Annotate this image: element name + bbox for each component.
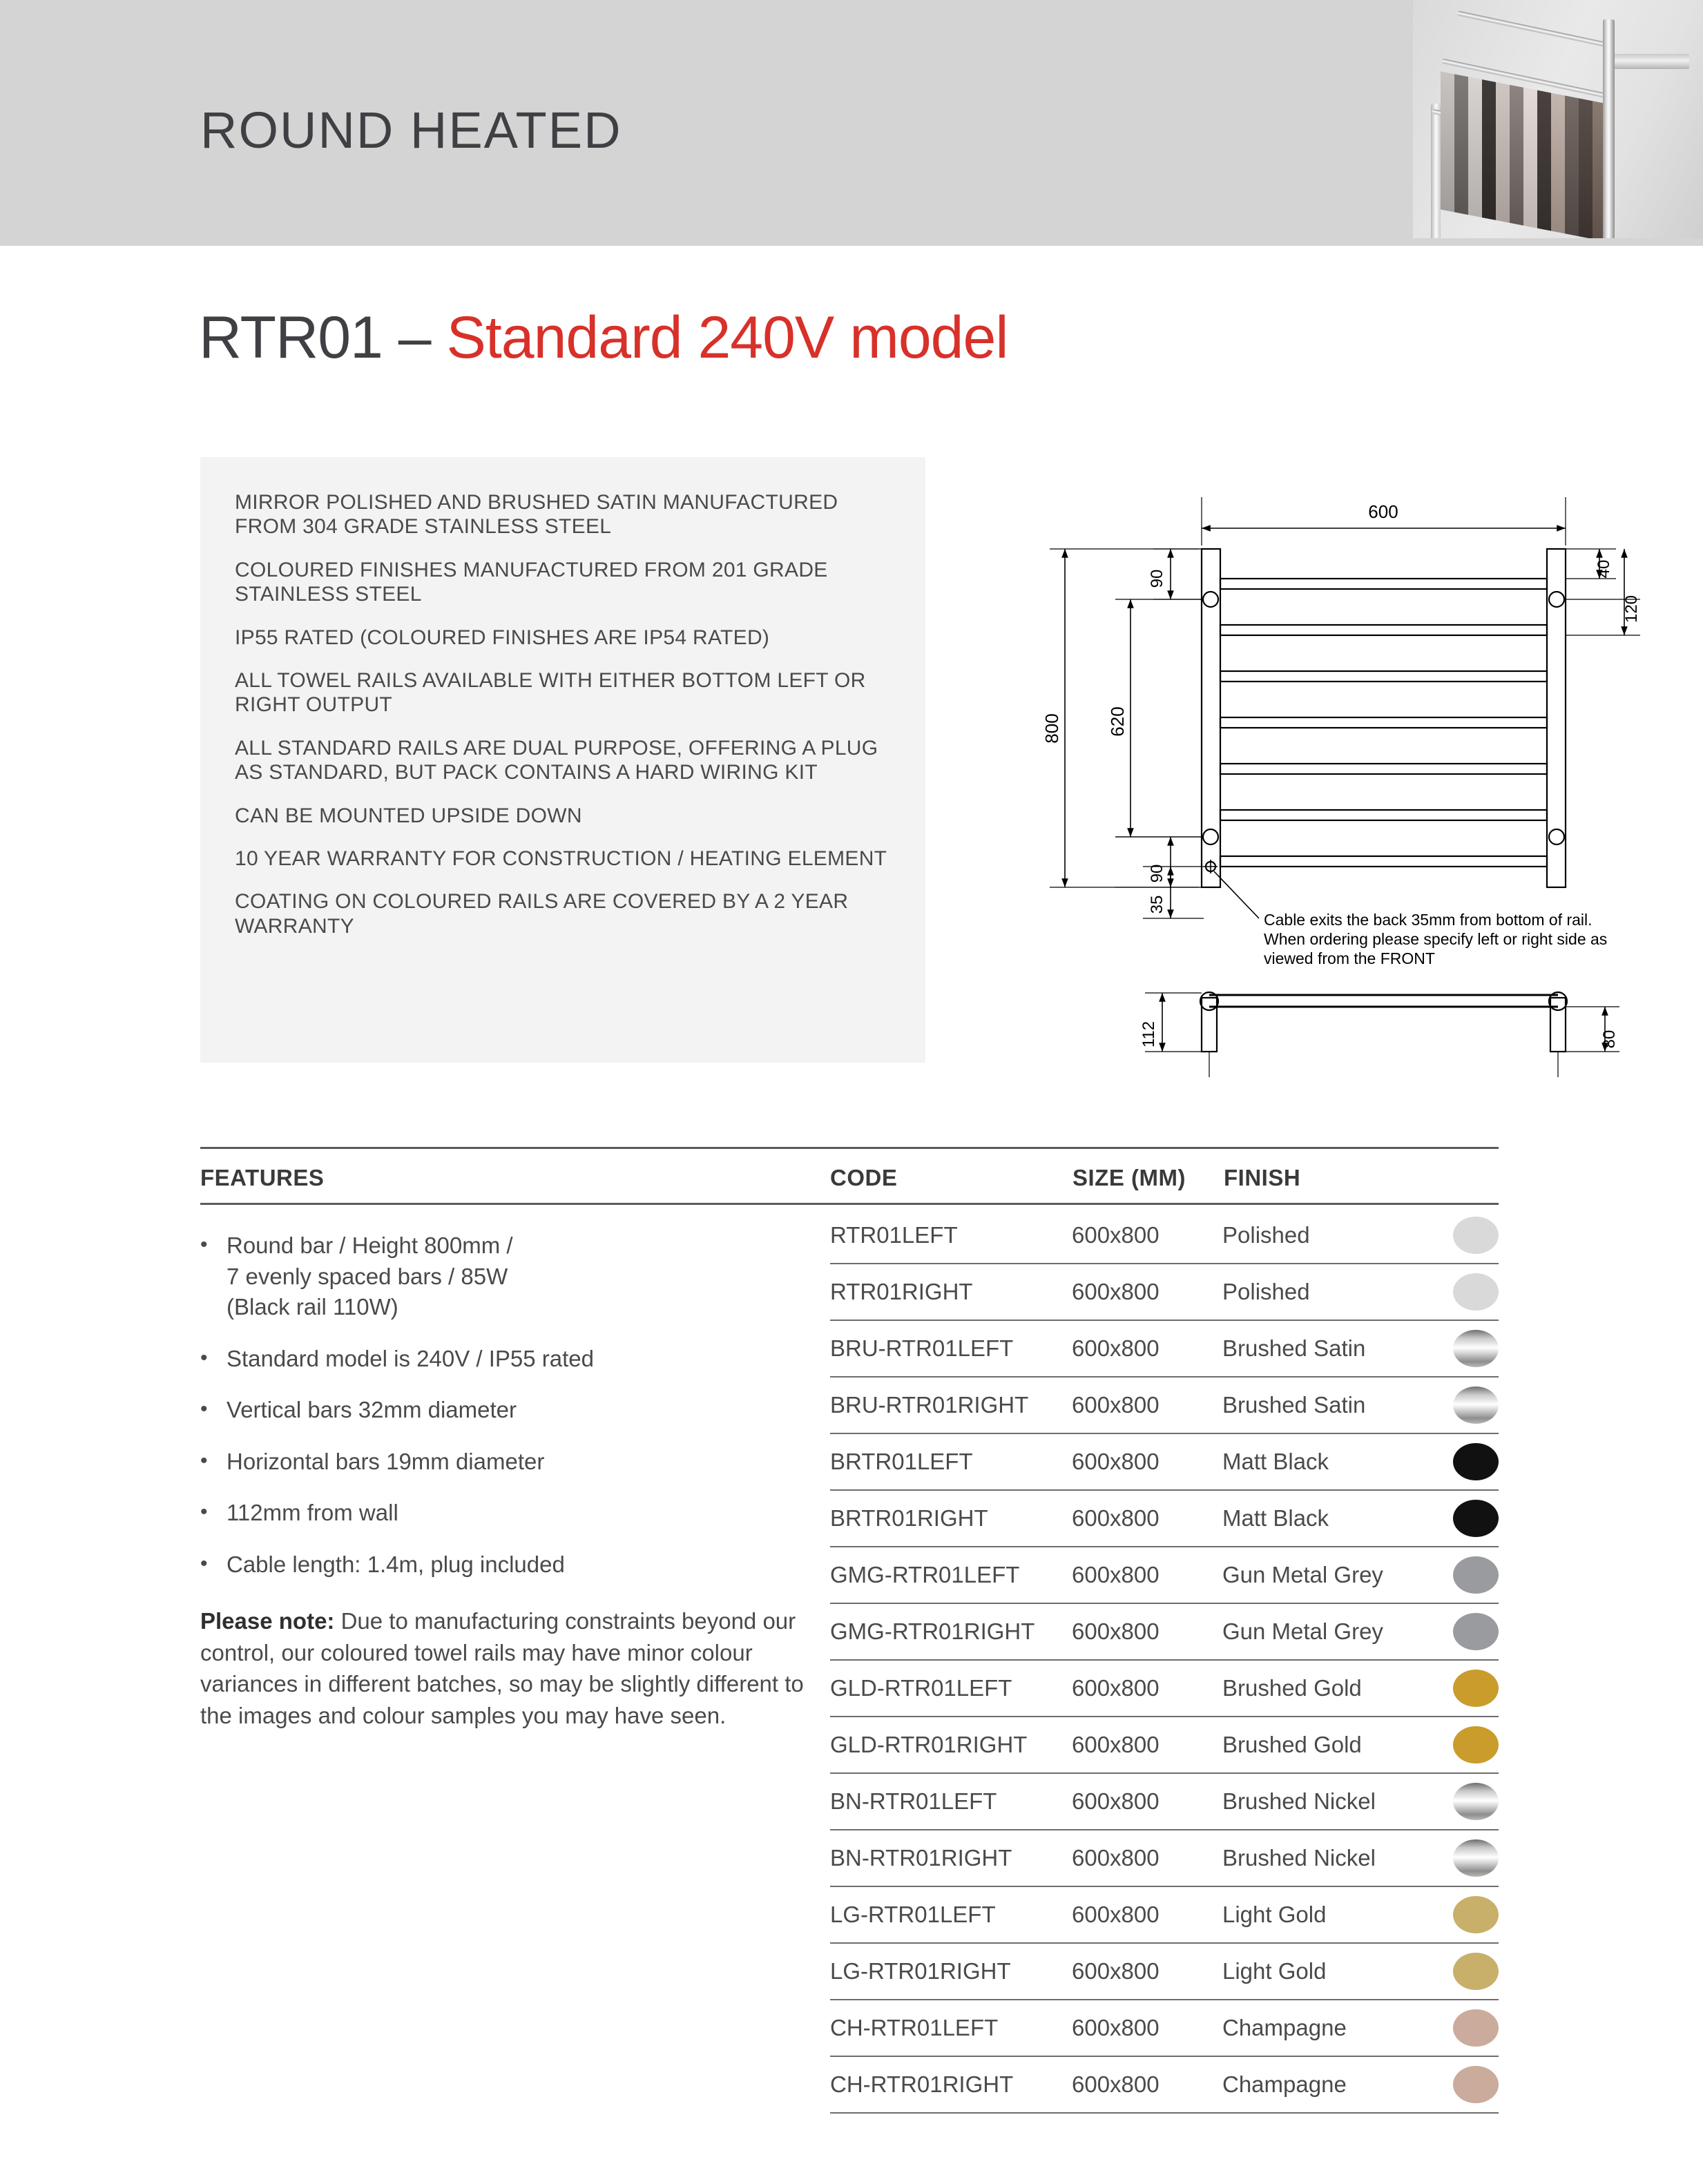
bullet-icon: • <box>200 1498 227 1529</box>
table-row: BRTR01RIGHT600x800Matt Black <box>830 1490 1499 1547</box>
please-note-label: Please note: <box>200 1608 334 1634</box>
cell-size: 600x800 <box>1072 1603 1222 1660</box>
finish-swatch-gun-metal-grey <box>1453 1556 1499 1594</box>
feature-text: Round bar / Height 800mm / 7 evenly spac… <box>227 1230 808 1323</box>
cell-size: 600x800 <box>1072 2000 1222 2056</box>
cell-swatch <box>1424 1830 1499 1886</box>
table-row: RTR01LEFT600x800Polished <box>830 1207 1499 1264</box>
cell-code: CH-RTR01RIGHT <box>830 2056 1072 2113</box>
cell-size: 600x800 <box>1072 1320 1222 1377</box>
cell-size: 600x800 <box>1072 2056 1222 2113</box>
cell-size: 600x800 <box>1072 1660 1222 1717</box>
spec-line: MIRROR POLISHED AND BRUSHED SATIN MANUFA… <box>235 490 894 539</box>
table-row: LG-RTR01RIGHT600x800Light Gold <box>830 1943 1499 2000</box>
dim-112: 112 <box>1139 1021 1158 1047</box>
dim-600: 600 <box>1368 501 1398 522</box>
finish-swatch-champagne <box>1453 2066 1499 2103</box>
cell-code: BN-RTR01LEFT <box>830 1773 1072 1830</box>
cell-finish: Light Gold <box>1222 1886 1424 1943</box>
table-row: BN-RTR01RIGHT600x800Brushed Nickel <box>830 1830 1499 1886</box>
dim-800: 800 <box>1041 713 1062 743</box>
table-row: GMG-RTR01RIGHT600x800Gun Metal Grey <box>830 1603 1499 1660</box>
cell-code: LG-RTR01LEFT <box>830 1886 1072 1943</box>
table-row: CH-RTR01RIGHT600x800Champagne <box>830 2056 1499 2113</box>
finish-swatch-matt-black <box>1453 1500 1499 1537</box>
cell-size: 600x800 <box>1072 1433 1222 1490</box>
finish-swatch-champagne <box>1453 2009 1499 2047</box>
drawing-svg: 600 800 620 90 90 35 40 <box>994 414 1685 1077</box>
cell-code: GLD-RTR01LEFT <box>830 1660 1072 1717</box>
feature-item: •Round bar / Height 800mm / 7 evenly spa… <box>200 1230 808 1323</box>
cell-finish: Brushed Gold <box>1222 1660 1424 1717</box>
feature-item: •112mm from wall <box>200 1498 808 1529</box>
feature-text: Cable length: 1.4m, plug included <box>227 1549 808 1581</box>
table-row: BN-RTR01LEFT600x800Brushed Nickel <box>830 1773 1499 1830</box>
cell-code: RTR01RIGHT <box>830 1264 1072 1320</box>
cell-swatch <box>1424 1886 1499 1943</box>
cell-code: BRTR01RIGHT <box>830 1490 1072 1547</box>
cell-finish: Matt Black <box>1222 1433 1424 1490</box>
technical-drawing: 600 800 620 90 90 35 40 <box>994 414 1685 1077</box>
bullet-icon: • <box>200 1344 227 1375</box>
cell-swatch <box>1424 1377 1499 1433</box>
dim-80: 80 <box>1600 1030 1619 1049</box>
product-variants-table: RTR01LEFT600x800PolishedRTR01RIGHT600x80… <box>830 1207 1499 2114</box>
bullet-icon: • <box>200 1447 227 1478</box>
table-row: BRU-RTR01RIGHT600x800Brushed Satin <box>830 1377 1499 1433</box>
feature-item: •Horizontal bars 19mm diameter <box>200 1447 808 1478</box>
cell-finish: Polished <box>1222 1264 1424 1320</box>
cell-size: 600x800 <box>1072 1943 1222 2000</box>
cell-swatch <box>1424 2000 1499 2056</box>
page-title: ROUND HEATED <box>200 105 622 156</box>
dim-620: 620 <box>1107 706 1128 736</box>
cell-finish: Brushed Nickel <box>1222 1830 1424 1886</box>
cell-finish: Brushed Gold <box>1222 1717 1424 1773</box>
column-header-code: CODE <box>830 1165 897 1191</box>
bullet-icon: • <box>200 1230 227 1323</box>
cell-code: LG-RTR01RIGHT <box>830 1943 1072 2000</box>
cable-note-line-1: Cable exits the back 35mm from bottom of… <box>1264 911 1593 929</box>
finish-swatch-light-gold <box>1453 1896 1499 1933</box>
cell-code: GMG-RTR01LEFT <box>830 1547 1072 1603</box>
table-row: GLD-RTR01LEFT600x800Brushed Gold <box>830 1660 1499 1717</box>
table-row: BRU-RTR01LEFT600x800Brushed Satin <box>830 1320 1499 1377</box>
cell-finish: Polished <box>1222 1207 1424 1264</box>
spec-line: 10 YEAR WARRANTY FOR CONSTRUCTION / HEAT… <box>235 847 894 871</box>
cell-finish: Gun Metal Grey <box>1222 1547 1424 1603</box>
column-header-size: SIZE (MM) <box>1072 1165 1186 1191</box>
cable-note-line-2: When ordering please specify left or rig… <box>1264 930 1607 948</box>
feature-text: 112mm from wall <box>227 1498 808 1529</box>
table-row: RTR01RIGHT600x800Polished <box>830 1264 1499 1320</box>
column-header-finish: FINISH <box>1224 1165 1300 1191</box>
feature-item: •Standard model is 240V / IP55 rated <box>200 1344 808 1375</box>
cell-swatch <box>1424 1660 1499 1717</box>
cell-code: GLD-RTR01RIGHT <box>830 1717 1072 1773</box>
dim-120: 120 <box>1622 595 1641 623</box>
table-row: GMG-RTR01LEFT600x800Gun Metal Grey <box>830 1547 1499 1603</box>
cell-swatch <box>1424 1320 1499 1377</box>
spec-line: IP55 RATED (COLOURED FINISHES ARE IP54 R… <box>235 626 894 650</box>
cell-finish: Light Gold <box>1222 1943 1424 2000</box>
wall-bracket-icon <box>1613 54 1689 69</box>
cell-size: 600x800 <box>1072 1547 1222 1603</box>
finish-swatch-polished <box>1453 1273 1499 1311</box>
cell-size: 600x800 <box>1072 1773 1222 1830</box>
table-row: BRTR01LEFT600x800Matt Black <box>830 1433 1499 1490</box>
finish-swatch-polished <box>1453 1217 1499 1254</box>
spec-line: COATING ON COLOURED RAILS ARE COVERED BY… <box>235 889 894 938</box>
header-band: ROUND HEATED <box>0 0 1703 246</box>
finish-swatch-brushed-satin <box>1453 1386 1499 1424</box>
spec-line: ALL TOWEL RAILS AVAILABLE WITH EITHER BO… <box>235 668 894 717</box>
cell-finish: Matt Black <box>1222 1490 1424 1547</box>
column-header-features: FEATURES <box>200 1165 324 1191</box>
product-code: RTR01 <box>199 305 383 371</box>
finish-swatch-light-gold <box>1453 1953 1499 1990</box>
rail-post-back-icon <box>1431 104 1441 238</box>
feature-text: Standard model is 240V / IP55 rated <box>227 1344 808 1375</box>
dim-35: 35 <box>1148 896 1166 914</box>
finish-swatch-brushed-gold <box>1453 1670 1499 1707</box>
specification-box: MIRROR POLISHED AND BRUSHED SATIN MANUFA… <box>200 457 925 1063</box>
feature-text: Vertical bars 32mm diameter <box>227 1395 808 1426</box>
cell-size: 600x800 <box>1072 1377 1222 1433</box>
cell-swatch <box>1424 1603 1499 1660</box>
finish-swatch-brushed-nickel <box>1453 1783 1499 1820</box>
cell-code: BRU-RTR01LEFT <box>830 1320 1072 1377</box>
feature-item: •Vertical bars 32mm diameter <box>200 1395 808 1426</box>
cell-swatch <box>1424 1943 1499 2000</box>
cell-swatch <box>1424 1717 1499 1773</box>
product-subtitle: Standard 240V model <box>447 305 1008 371</box>
cell-swatch <box>1424 1264 1499 1320</box>
cell-code: RTR01LEFT <box>830 1207 1072 1264</box>
table-row: GLD-RTR01RIGHT600x800Brushed Gold <box>830 1717 1499 1773</box>
dim-90-top: 90 <box>1148 570 1166 588</box>
cell-finish: Champagne <box>1222 2000 1424 2056</box>
cell-size: 600x800 <box>1072 1264 1222 1320</box>
cell-swatch <box>1424 1433 1499 1490</box>
cell-swatch <box>1424 1207 1499 1264</box>
spec-line: CAN BE MOUNTED UPSIDE DOWN <box>235 804 894 828</box>
cell-size: 600x800 <box>1072 1886 1222 1943</box>
finish-swatch-brushed-satin <box>1453 1330 1499 1367</box>
cell-swatch <box>1424 1547 1499 1603</box>
rail-post-front-icon <box>1603 19 1615 238</box>
finish-swatch-brushed-nickel <box>1453 1839 1499 1877</box>
cell-finish: Gun Metal Grey <box>1222 1603 1424 1660</box>
cell-finish: Champagne <box>1222 2056 1424 2113</box>
cell-swatch <box>1424 2056 1499 2113</box>
cell-finish: Brushed Nickel <box>1222 1773 1424 1830</box>
finish-swatch-matt-black <box>1453 1443 1499 1480</box>
header-product-photo <box>1413 0 1703 238</box>
cell-code: BRU-RTR01RIGHT <box>830 1377 1072 1433</box>
bullet-icon: • <box>200 1549 227 1581</box>
cell-code: GMG-RTR01RIGHT <box>830 1603 1072 1660</box>
finish-swatch-gun-metal-grey <box>1453 1613 1499 1650</box>
product-dash: – <box>398 305 431 371</box>
spec-line: ALL STANDARD RAILS ARE DUAL PURPOSE, OFF… <box>235 736 894 785</box>
cell-code: BRTR01LEFT <box>830 1433 1072 1490</box>
cell-size: 600x800 <box>1072 1490 1222 1547</box>
finish-swatch-brushed-gold <box>1453 1726 1499 1763</box>
cell-size: 600x800 <box>1072 1717 1222 1773</box>
cell-finish: Brushed Satin <box>1222 1320 1424 1377</box>
feature-item: •Cable length: 1.4m, plug included <box>200 1549 808 1581</box>
please-note-paragraph: Please note: Due to manufacturing constr… <box>200 1605 808 1731</box>
bullet-icon: • <box>200 1395 227 1426</box>
dim-40: 40 <box>1595 560 1613 579</box>
cell-size: 600x800 <box>1072 1830 1222 1886</box>
spec-line: COLOURED FINISHES MANUFACTURED FROM 201 … <box>235 558 894 607</box>
table-row: CH-RTR01LEFT600x800Champagne <box>830 2000 1499 2056</box>
table-header-rule <box>200 1203 1499 1205</box>
table-top-rule <box>200 1147 1499 1149</box>
table-row: LG-RTR01LEFT600x800Light Gold <box>830 1886 1499 1943</box>
cell-code: BN-RTR01RIGHT <box>830 1830 1072 1886</box>
cell-size: 600x800 <box>1072 1207 1222 1264</box>
dim-90-bottom: 90 <box>1148 864 1166 883</box>
cell-code: CH-RTR01LEFT <box>830 2000 1072 2056</box>
cable-note-line-3: viewed from the FRONT <box>1264 949 1435 967</box>
feature-text: Horizontal bars 19mm diameter <box>227 1447 808 1478</box>
cell-finish: Brushed Satin <box>1222 1377 1424 1433</box>
product-title: RTR01 – Standard 240V model <box>199 308 1008 367</box>
cell-swatch <box>1424 1490 1499 1547</box>
features-list: •Round bar / Height 800mm / 7 evenly spa… <box>200 1230 808 1601</box>
cell-swatch <box>1424 1773 1499 1830</box>
